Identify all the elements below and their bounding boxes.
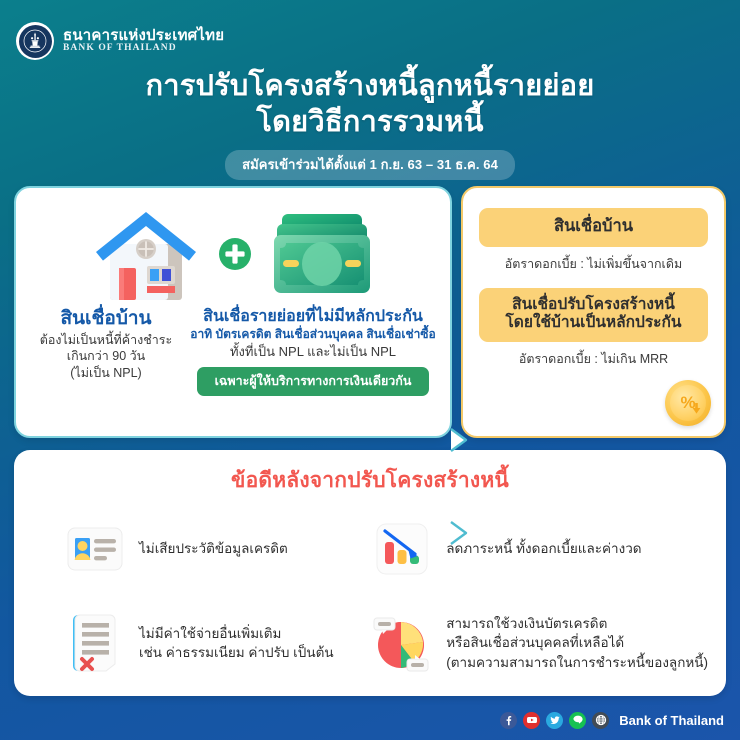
percent-down-coin-icon: % — [665, 380, 711, 426]
page-header: ธนาคารแห่งประเทศไทย BANK OF THAILAND การ… — [0, 0, 740, 180]
house-loan-sub-line2: เกินกว่า 90 วัน — [28, 348, 184, 365]
arrow-down-icon — [692, 403, 701, 414]
house-loan-sub: ต้องไม่เป็นหนี้ที่ค้างชำระ เกินกว่า 90 ว… — [28, 332, 184, 382]
enrollment-date-badge: สมัครเข้าร่วมได้ตั้งแต่ 1 ก.ย. 63 – 31 ธ… — [225, 150, 515, 180]
eligibility-card: สินเชื่อบ้าน ต้องไม่เป็นหนี้ที่ค้างชำระ … — [14, 186, 452, 438]
benefit-line: สามารถใช้วงเงินบัตรเครดิต — [446, 614, 708, 633]
benefit-item: ไม่มีค่าใช้จ่ายอื่นเพิ่มเติม เช่น ค่าธรร… — [32, 599, 351, 687]
loan-labels-row: สินเชื่อบ้าน ต้องไม่เป็นหนี้ที่ค้างชำระ … — [16, 308, 450, 396]
pie-chart-icon — [371, 606, 433, 680]
house-icon — [88, 202, 204, 311]
brand-logo: ธนาคารแห่งประเทศไทย BANK OF THAILAND — [16, 22, 224, 60]
top-cards-section: สินเชื่อบ้าน ต้องไม่เป็นหนี้ที่ค้างชำระ … — [14, 186, 726, 438]
outcome-restructure-rate: อัตราดอกเบี้ย : ไม่เกิน MRR — [479, 349, 708, 369]
page-footer: Bank of Thailand — [0, 700, 740, 740]
website-globe-icon[interactable] — [592, 712, 609, 729]
facebook-icon[interactable] — [500, 712, 517, 729]
benefit-text: ไม่เสียประวัติข้อมูลเครดิต — [139, 539, 288, 558]
line-icon[interactable] — [569, 712, 586, 729]
unsecured-loan-label-block: สินเชื่อรายย่อยที่ไม่มีหลักประกัน อาทิ บ… — [184, 308, 442, 396]
outcome-card: สินเชื่อบ้าน อัตราดอกเบี้ย : ไม่เพิ่มขึ้… — [461, 186, 726, 438]
plus-icon — [218, 237, 252, 276]
footer-brand-label: Bank of Thailand — [619, 713, 724, 728]
outcome-house-loan-rate: อัตราดอกเบี้ย : ไม่เพิ่มขึ้นจากเดิม — [479, 254, 708, 274]
outcome-house-loan-box: สินเชื่อบ้าน — [479, 208, 708, 247]
page-title-line1: การปรับโครงสร้างหนี้ลูกหนี้รายย่อย — [0, 68, 740, 104]
declining-bar-chart-icon — [371, 512, 433, 586]
outcome-restructure-line2: โดยใช้บ้านเป็นหลักประกัน — [485, 314, 702, 333]
house-loan-label-block: สินเชื่อบ้าน ต้องไม่เป็นหนี้ที่ค้างชำระ … — [24, 308, 184, 396]
unsecured-loan-examples: อาทิ บัตรเครดิต สินเชื่อส่วนบุคคล สินเชื… — [184, 327, 442, 343]
benefit-text: ไม่มีค่าใช้จ่ายอื่นเพิ่มเติม เช่น ค่าธรร… — [139, 624, 334, 662]
benefits-title: ข้อดีหลังจากปรับโครงสร้างหนี้ — [32, 464, 708, 497]
outcome-restructure-line1: สินเชื่อปรับโครงสร้างหนี้ — [485, 296, 702, 315]
flow-arrow-top-icon — [450, 426, 476, 454]
benefits-card: ข้อดีหลังจากปรับโครงสร้างหนี้ ไม่เสียประ… — [14, 450, 726, 696]
youtube-icon[interactable] — [523, 712, 540, 729]
page-title-line2: โดยวิธีการรวมหนี้ — [0, 104, 740, 140]
benefit-item: ไม่เสียประวัติข้อมูลเครดิต — [32, 505, 351, 593]
benefit-line: ไม่เสียประวัติข้อมูลเครดิต — [139, 539, 288, 558]
id-card-icon — [64, 512, 126, 586]
same-provider-pill: เฉพาะผู้ให้บริการทางการเงินเดียวกัน — [197, 367, 429, 396]
flow-arrow-bottom-icon — [450, 519, 476, 547]
document-x-icon — [64, 606, 126, 680]
benefits-grid: ไม่เสียประวัติข้อมูลเครดิต ลดภาระหนี้ ทั… — [32, 505, 708, 687]
benefit-text: สามารถใช้วงเงินบัตรเครดิต หรือสินเชื่อส่… — [446, 614, 708, 671]
unsecured-loan-title: สินเชื่อรายย่อยที่ไม่มีหลักประกัน — [184, 308, 442, 326]
banknote-icon — [266, 204, 378, 309]
outcome-restructure-loan-box: สินเชื่อปรับโครงสร้างหนี้ โดยใช้บ้านเป็น… — [479, 288, 708, 342]
benefit-line: (ตามความสามารถในการชำระหนี้ของลูกหนี้) — [446, 653, 708, 672]
twitter-icon[interactable] — [546, 712, 563, 729]
bot-seal-icon — [16, 22, 54, 60]
benefit-line: ไม่มีค่าใช้จ่ายอื่นเพิ่มเติม — [139, 624, 334, 643]
brand-name-en: BANK OF THAILAND — [63, 44, 224, 54]
benefit-line: เช่น ค่าธรรมเนียม ค่าปรับ เป็นต้น — [139, 643, 334, 662]
unsecured-loan-npl-note: ทั้งที่เป็น NPL และไม่เป็น NPL — [184, 344, 442, 361]
brand-name-th: ธนาคารแห่งประเทศไทย — [63, 28, 224, 44]
header-title-block: การปรับโครงสร้างหนี้ลูกหนี้รายย่อย โดยวิ… — [0, 68, 740, 180]
house-loan-sub-line1: ต้องไม่เป็นหนี้ที่ค้างชำระ — [28, 332, 184, 349]
house-loan-title: สินเชื่อบ้าน — [28, 308, 184, 330]
benefit-item: สามารถใช้วงเงินบัตรเครดิต หรือสินเชื่อส่… — [351, 599, 708, 687]
benefit-line: หรือสินเชื่อส่วนบุคคลที่เหลือได้ — [446, 633, 708, 652]
loan-icons-row — [16, 188, 450, 308]
benefit-item: ลดภาระหนี้ ทั้งดอกเบี้ยและค่างวด — [351, 505, 708, 593]
house-loan-sub-line3: (ไม่เป็น NPL) — [28, 365, 184, 382]
